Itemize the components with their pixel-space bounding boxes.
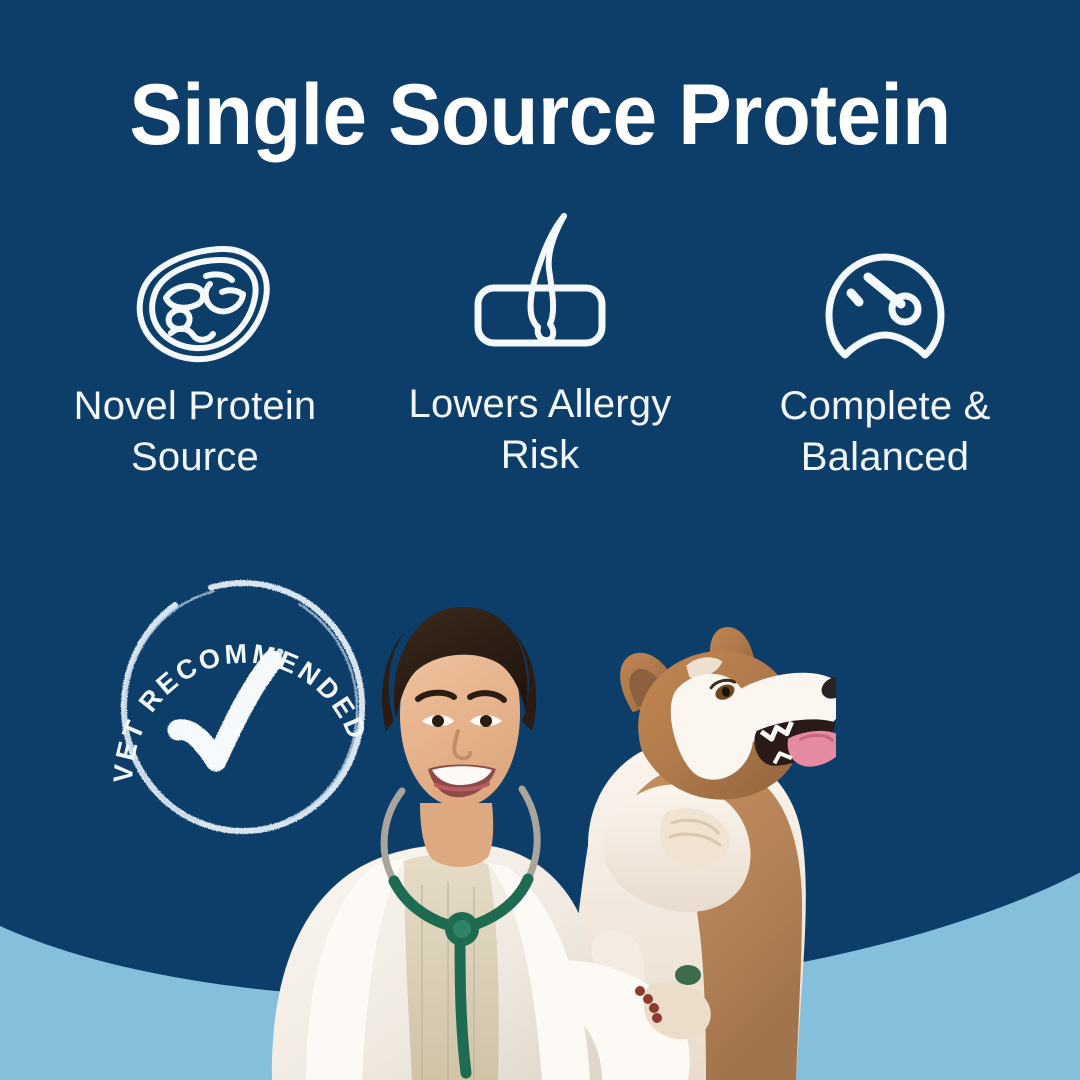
caption-line-1: Complete & (780, 384, 991, 428)
caption-line-1: Novel Protein (74, 384, 317, 428)
feature-novel-protein-source: Novel Protein Source (30, 215, 360, 483)
feature-caption: Lowers Allergy Risk (409, 379, 672, 481)
vet-with-husky-photo (236, 545, 836, 1080)
poster-canvas: Single Source Protein (0, 0, 1080, 1080)
caption-line-1: Lowers Allergy (409, 382, 672, 426)
feature-caption: Novel Protein Source (74, 381, 317, 483)
hair-follicle-skin-icon (460, 177, 620, 365)
feature-caption: Complete & Balanced (780, 381, 991, 483)
gauge-speedometer-icon (815, 215, 955, 365)
feature-complete-and-balanced: Complete & Balanced (720, 215, 1050, 483)
feature-lowers-allergy-risk: Lowers Allergy Risk (375, 177, 705, 481)
caption-line-2: Source (131, 435, 259, 479)
feature-row: Novel Protein Source (0, 215, 1080, 483)
steak-icon (110, 215, 280, 365)
caption-line-2: Balanced (801, 435, 969, 479)
page-title: Single Source Protein (38, 72, 1042, 158)
caption-line-2: Risk (501, 433, 580, 477)
